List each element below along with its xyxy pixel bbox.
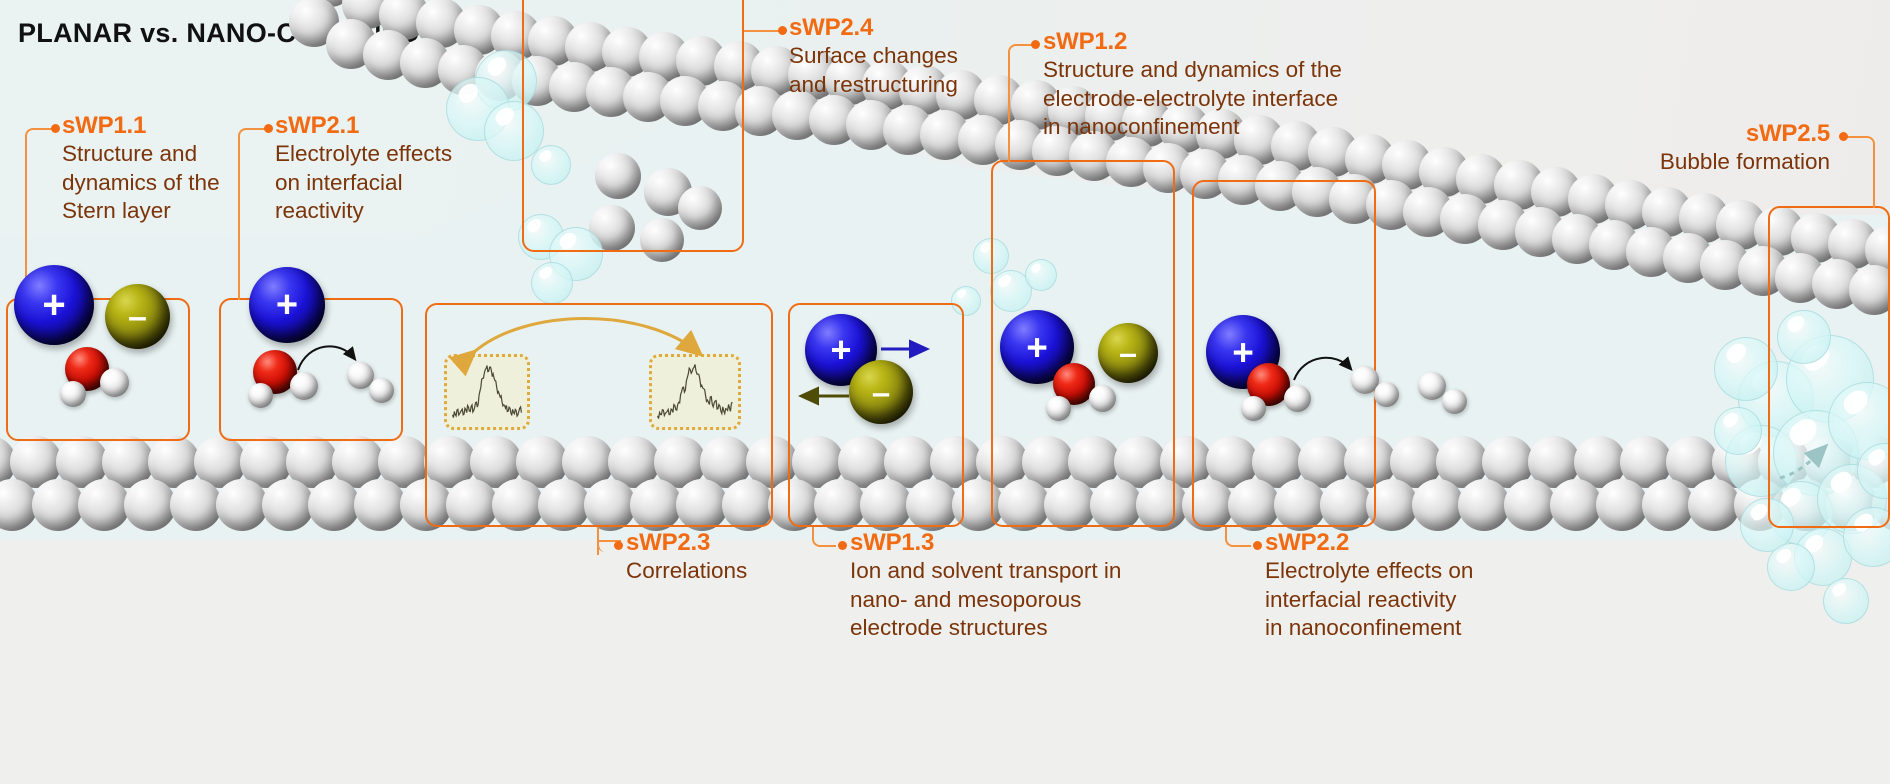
panel-swp2-4[interactable]	[522, 0, 744, 252]
cation-sphere: +	[249, 267, 325, 343]
spectrum-left-trace	[447, 357, 527, 427]
cation-sign: +	[14, 265, 94, 345]
anion-sign: –	[1098, 323, 1158, 383]
label-desc: Electrolyte effects on interfacial react…	[1265, 557, 1595, 642]
anion-sign: –	[849, 360, 913, 424]
electrode-atom	[1688, 479, 1740, 531]
electrode-atom	[32, 479, 84, 531]
electrode-atom	[1642, 479, 1694, 531]
label-desc: Structure and dynamics of the electrode-…	[1043, 56, 1383, 141]
label-code: sWP2.2	[1265, 530, 1595, 556]
cation-sphere: +	[14, 265, 94, 345]
connector-dot-swp2-4	[778, 26, 787, 35]
hydrogen-atom	[60, 381, 86, 407]
electrode-atom	[1458, 479, 1510, 531]
gas-bubble	[1823, 578, 1869, 624]
label-desc: Correlations	[626, 557, 846, 585]
label-desc: Bubble formation	[1530, 148, 1830, 176]
hydrogen-atom	[1241, 396, 1266, 421]
electrode-atom	[78, 479, 130, 531]
electrode-atom	[1550, 479, 1602, 531]
label-desc: Structure and dynamics of the Stern laye…	[62, 140, 242, 225]
label-desc: Ion and solvent transport in nano- and m…	[850, 557, 1180, 642]
label-swp1-2: sWP1.2 Structure and dynamics of the ele…	[1043, 29, 1383, 141]
hydrogen-atom	[1046, 396, 1071, 421]
reaction-arrow-swp2-2	[1292, 350, 1362, 398]
cation-transport-arrow	[881, 338, 939, 360]
infographic-canvas: PLANAR vs. NANO-CONFINED sWP1.1 Structur…	[0, 0, 1890, 784]
anion-sphere: –	[1098, 323, 1158, 383]
connector-swp2-5	[1843, 136, 1875, 208]
connector-swp1-3	[812, 527, 836, 547]
connector-dot-swp2-1	[264, 124, 273, 133]
connector-dot-swp2-5	[1839, 132, 1848, 141]
electrode-atom	[354, 479, 406, 531]
connector-dot-swp2-3	[614, 541, 623, 550]
hydrogen-atom	[369, 378, 394, 403]
anion-sphere: –	[849, 360, 913, 424]
hydrogen-atom	[100, 368, 129, 397]
anion-sign: –	[105, 284, 170, 349]
electrode-atom	[170, 479, 222, 531]
electrode-atom	[1596, 479, 1648, 531]
reaction-arrow-swp2-1	[296, 338, 366, 388]
anion-sphere: –	[105, 284, 170, 349]
bubble-rise-arrow	[1778, 430, 1864, 500]
connector-dot-swp1-3	[838, 541, 847, 550]
label-code: sWP2.1	[275, 113, 485, 139]
spectrum-right-trace	[652, 357, 738, 427]
electrode-atom	[216, 479, 268, 531]
hydrogen-atom	[1089, 385, 1116, 412]
connector-swp1-2	[1008, 44, 1038, 162]
electrode-atom	[308, 479, 360, 531]
label-code: sWP2.5	[1530, 121, 1830, 147]
hydrogen-atom	[248, 383, 273, 408]
electrode-atom	[124, 479, 176, 531]
label-code: sWP2.4	[789, 15, 1019, 41]
gas-bubble	[1714, 407, 1762, 455]
correlation-arrow	[455, 305, 735, 367]
gas-bubble	[1767, 543, 1815, 591]
connector-dot-swp1-2	[1031, 40, 1040, 49]
anion-transport-arrow	[795, 385, 857, 407]
electrode-atom	[1504, 479, 1556, 531]
label-swp2-5: sWP2.5 Bubble formation	[1530, 121, 1830, 177]
cation-sign: +	[249, 267, 325, 343]
label-code: sWP1.2	[1043, 29, 1383, 55]
gas-bubble	[531, 262, 573, 304]
label-desc: Surface changes and restructuring	[789, 42, 1019, 99]
label-swp2-1: sWP2.1 Electrolyte effects on interfacia…	[275, 113, 485, 225]
label-swp2-4: sWP2.4 Surface changes and restructuring	[789, 15, 1019, 99]
hydrogen-atom	[1418, 372, 1446, 400]
connector-dot-swp1-1	[51, 124, 60, 133]
electrode-atom	[1412, 479, 1464, 531]
hydrogen-atom	[1374, 382, 1399, 407]
label-swp1-1: sWP1.1 Structure and dynamics of the Ste…	[62, 113, 242, 225]
label-desc: Electrolyte effects on interfacial react…	[275, 140, 485, 225]
label-code: sWP1.1	[62, 113, 242, 139]
connector-swp2-2	[1225, 527, 1251, 547]
label-swp2-2: sWP2.2 Electrolyte effects on interfacia…	[1265, 530, 1595, 642]
label-code: sWP1.3	[850, 530, 1180, 556]
connector-swp2-4	[744, 30, 782, 32]
label-swp1-3: sWP1.3 Ion and solvent transport in nano…	[850, 530, 1180, 642]
electrode-atom	[262, 479, 314, 531]
connector-dot-swp2-2	[1253, 541, 1262, 550]
hydrogen-atom	[1442, 389, 1467, 414]
